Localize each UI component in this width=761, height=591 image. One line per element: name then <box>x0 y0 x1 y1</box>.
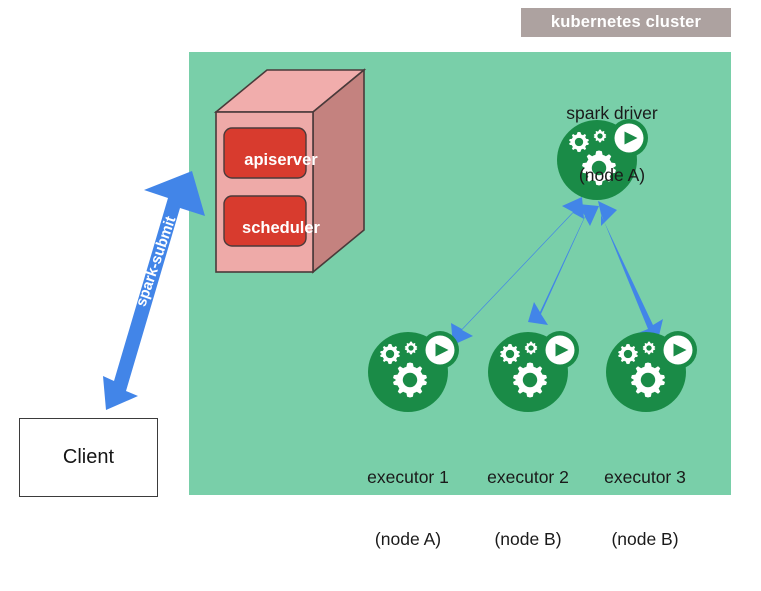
executor-3-label-line1: executor 3 <box>570 467 720 488</box>
client-box: Client <box>19 418 158 497</box>
client-label: Client <box>63 446 114 469</box>
spark-driver-caption: spark driver (node A) <box>517 62 707 227</box>
executor-3-caption: executor 3 (node B) <box>570 426 720 591</box>
diagram-canvas: kubernetes cluster apiserver scheduler s… <box>0 0 761 516</box>
apiserver-label: apiserver <box>224 151 338 170</box>
kubernetes-cluster-badge: kubernetes cluster <box>521 8 731 37</box>
control-plane-cube <box>216 70 364 272</box>
scheduler-label: scheduler <box>224 219 338 238</box>
executor-3-label-line2: (node B) <box>570 529 720 550</box>
spark-driver-label-line1: spark driver <box>517 103 707 124</box>
spark-driver-label-line2: (node A) <box>517 165 707 186</box>
